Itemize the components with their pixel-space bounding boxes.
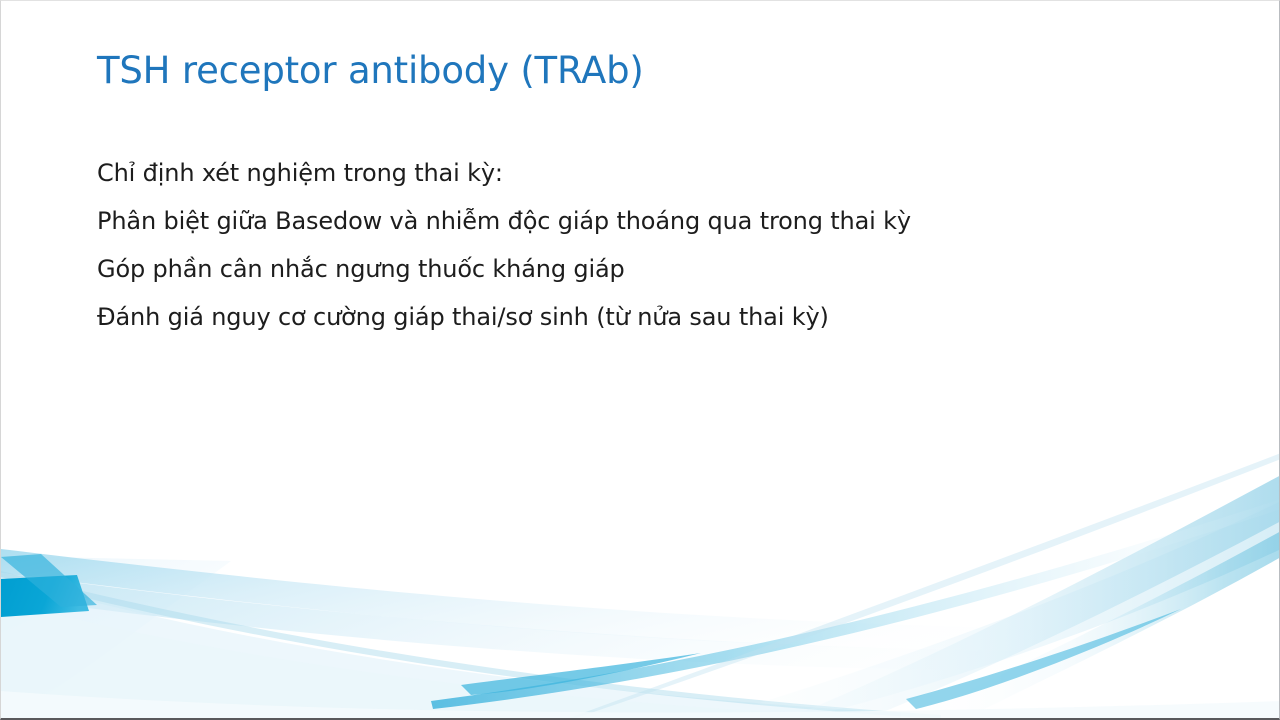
wave-crossing-node-2	[906, 609, 1181, 709]
wave-ribbon-upper-right-2	[1, 573, 1280, 671]
wave-highlight-streak	[431, 499, 1280, 709]
decorative-wave-graphic	[1, 1, 1280, 720]
wave-faint-guide-line	[561, 453, 1280, 720]
wave-rising-ribbon-2	[701, 501, 1280, 720]
body-line-4: Đánh giá nguy cơ cường giáp thai/sơ sinh…	[97, 293, 1197, 341]
wave-band-descending-2	[1, 601, 901, 720]
wave-crossing-node	[461, 653, 701, 695]
wave-accent-sliver	[1, 554, 97, 607]
wave-accent-parallelogram	[1, 575, 89, 617]
wave-rising-ribbon-1	[781, 475, 1280, 720]
wave-edge-line-descending	[1, 571, 941, 719]
wave-bottom-glow	[1, 691, 1280, 720]
wave-rising-ribbon-3	[901, 531, 1280, 720]
slide-title: TSH receptor antibody (TRAb)	[97, 47, 1187, 95]
wave-band-descending	[1, 577, 901, 720]
slide: TSH receptor antibody (TRAb) Chỉ định xé…	[0, 0, 1280, 720]
wave-ribbon-upper-right	[1, 549, 1280, 652]
body-line-2: Phân biệt giữa Basedow và nhiễm độc giáp…	[97, 197, 1197, 245]
wave-pale-wash	[1, 556, 231, 720]
slide-body: Chỉ định xét nghiệm trong thai kỳ: Phân …	[97, 149, 1197, 341]
body-line-3: Góp phần cân nhắc ngưng thuốc kháng giáp	[97, 245, 1197, 293]
body-line-1: Chỉ định xét nghiệm trong thai kỳ:	[97, 149, 1197, 197]
